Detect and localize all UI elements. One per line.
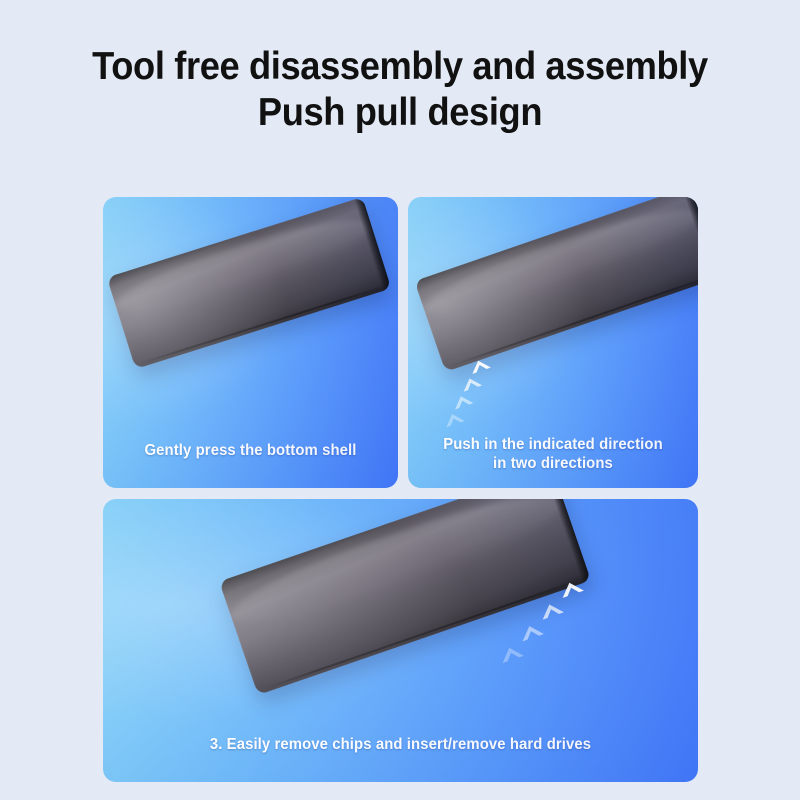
device-specular-highlight — [110, 206, 378, 325]
step-panel-1: Gently press the bottom shell — [103, 197, 398, 488]
step-3-caption: 3. Easily remove chips and insert/remove… — [115, 735, 686, 754]
step-panel-3: 3. Easily remove chips and insert/remove… — [103, 499, 698, 782]
page-title: Tool free disassembly and assembly Push … — [28, 44, 772, 136]
ssd-enclosure-device-3 — [219, 499, 591, 695]
step-panel-2: Push in the indicated direction in two d… — [408, 197, 698, 488]
step-1-caption: Gently press the bottom shell — [109, 441, 392, 460]
page-title-line-1: Tool free disassembly and assembly — [92, 45, 708, 88]
ssd-enclosure-device-2 — [414, 197, 698, 372]
device-specular-highlight — [417, 197, 698, 328]
ssd-enclosure-device-1 — [107, 197, 391, 369]
step-2-caption: Push in the indicated direction in two d… — [414, 435, 692, 473]
page-title-line-2: Push pull design — [28, 90, 772, 136]
step-2-caption-line-1: Push in the indicated direction — [443, 436, 663, 453]
device-edge-rim — [354, 197, 391, 291]
step-2-caption-line-2: in two directions — [493, 455, 613, 472]
